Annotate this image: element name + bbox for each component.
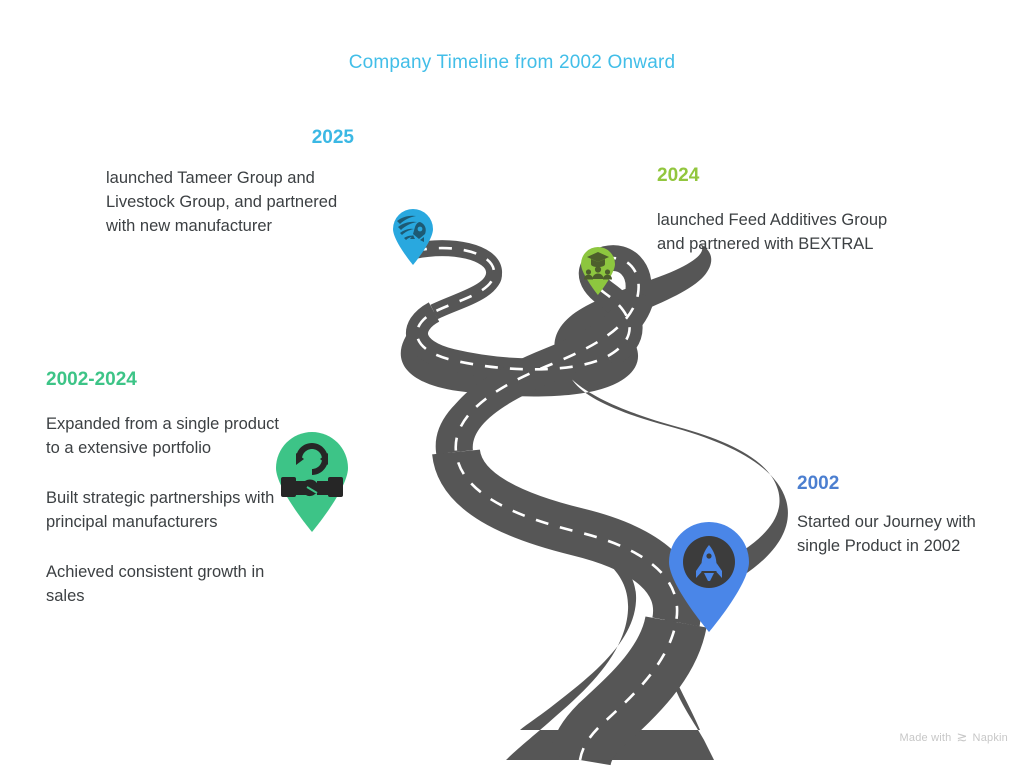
milestone-year-2002: 2002 bbox=[797, 474, 1007, 495]
milestone-text-2002-2024-0: Expanded from a single product to a exte… bbox=[46, 413, 292, 461]
road-body-group bbox=[414, 248, 677, 760]
milestone-block-2002-2024: 2002-2024 Expanded from a single product… bbox=[46, 370, 292, 608]
rocket-launch-pin[interactable] bbox=[390, 208, 436, 266]
graduation-group-pin[interactable] bbox=[578, 246, 618, 296]
milestone-text-2025-0: launched Tameer Group and Livestock Grou… bbox=[106, 167, 354, 239]
milestone-text-2002-2024-1: Built strategic partnerships with princi… bbox=[46, 487, 292, 535]
milestone-block-2024: 2024 launched Feed Additives Group and p… bbox=[657, 166, 907, 257]
road-band-5 bbox=[456, 452, 677, 622]
rocket-start-pin[interactable] bbox=[663, 521, 755, 633]
watermark-brand: Napkin bbox=[973, 732, 1008, 744]
road-band-6 bbox=[580, 622, 676, 760]
milestone-year-2024: 2024 bbox=[657, 166, 907, 187]
napkin-watermark: Made with ≳ Napkin bbox=[900, 731, 1008, 744]
milestone-block-2002: 2002 Started our Journey with single Pro… bbox=[797, 474, 1007, 559]
milestone-block-2025: 2025 launched Tameer Group and Livestock… bbox=[106, 128, 354, 239]
road-surface bbox=[401, 243, 788, 760]
milestone-year-2025: 2025 bbox=[106, 128, 354, 149]
milestone-year-2002-2024: 2002-2024 bbox=[46, 370, 292, 391]
napkin-logo-icon: ≳ bbox=[956, 730, 967, 743]
milestone-text-2002-0: Started our Journey with single Product … bbox=[797, 511, 1007, 559]
milestone-text-2002-2024-2: Achieved consistent growth in sales bbox=[46, 561, 292, 609]
road-band-2 bbox=[417, 312, 608, 369]
timeline-infographic: Company Timeline from 2002 Onward 2025 l… bbox=[0, 0, 1024, 768]
page-title: Company Timeline from 2002 Onward bbox=[0, 52, 1024, 74]
milestone-text-2024-0: launched Feed Additives Group and partne… bbox=[657, 209, 907, 257]
handshake-partnership-pin[interactable] bbox=[271, 431, 353, 533]
watermark-prefix: Made with bbox=[900, 732, 952, 744]
road-band-4 bbox=[456, 294, 638, 452]
road-center-dashes bbox=[414, 248, 677, 760]
